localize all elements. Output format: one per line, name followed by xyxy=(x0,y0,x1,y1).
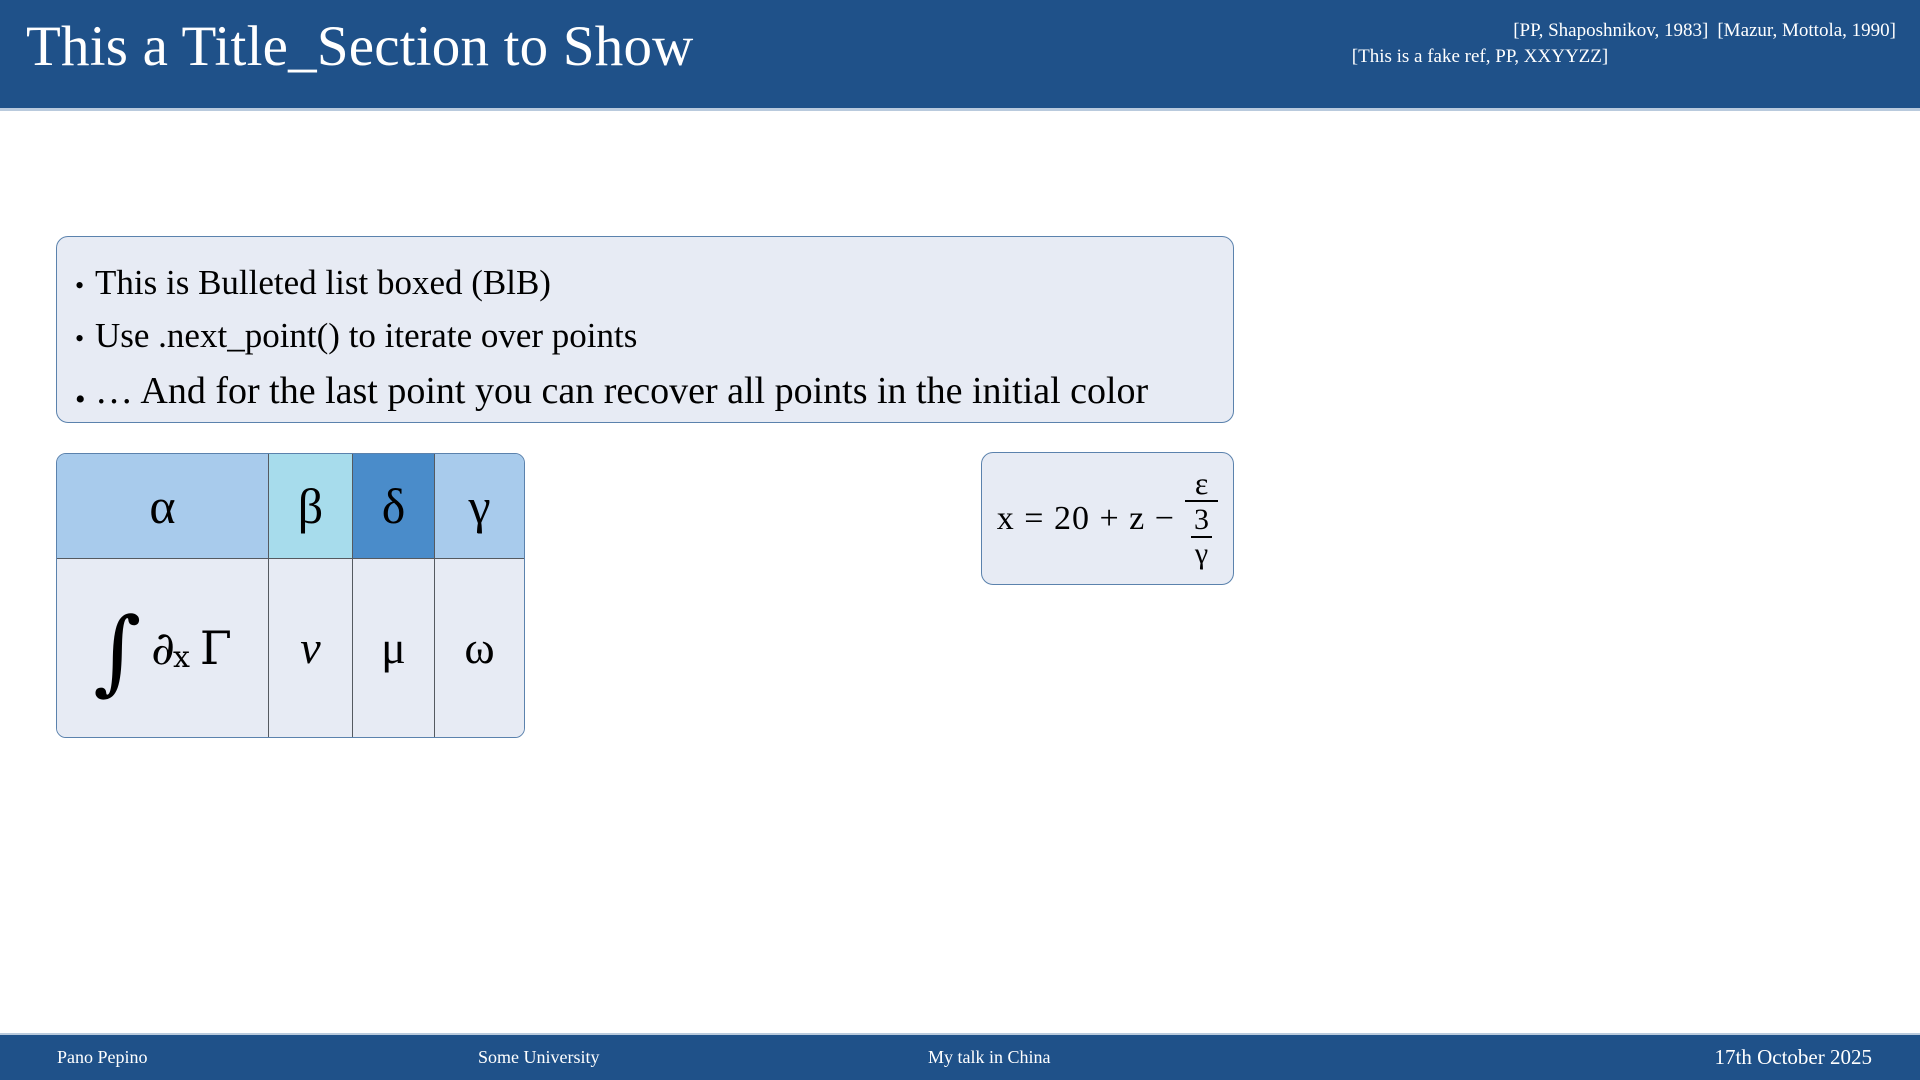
equation-left-hand-side: x = 20 + z − xyxy=(997,502,1175,536)
table-header-symbol: δ xyxy=(382,481,406,531)
footer-institute: Some University xyxy=(478,1035,600,1080)
fraction-numerator: ε xyxy=(1189,466,1214,500)
equation-box: x = 20 + z − ε 3 γ xyxy=(981,452,1234,585)
slide-header-bar: This a Title_Section to Show [PP, Shapos… xyxy=(0,0,1920,108)
table-header-symbol: γ xyxy=(468,481,490,531)
table-header-cell-delta: δ xyxy=(352,454,434,558)
table-cell-symbol: μ xyxy=(381,625,406,671)
bullet-icon: • xyxy=(75,326,95,352)
bulleted-list-box: • This is Bulleted list boxed (BlB) • Us… xyxy=(56,236,1234,423)
reference-item-1: [PP, Shaposhnikov, 1983] xyxy=(1513,20,1708,41)
fraction: ε 3 γ xyxy=(1185,466,1218,570)
fraction-denominator: 3 γ xyxy=(1185,500,1218,570)
integral-icon: ∫ xyxy=(93,613,141,691)
list-item-label: Use .next_point() to iterate over points xyxy=(95,310,637,362)
partial-derivative-symbol: ∂ xyxy=(151,625,175,671)
table-header-cell-beta: β xyxy=(268,454,352,558)
reference-item-2: [Mazur, Mottola, 1990] xyxy=(1717,20,1896,41)
greek-symbol-table: α β δ γ ∫∂xΓ ν μ ω xyxy=(56,453,525,738)
table-header-cell-alpha: α xyxy=(57,454,268,558)
table-row: ∫∂xΓ ν μ ω xyxy=(57,558,524,737)
list-item-label: This is Bulleted list boxed (BlB) xyxy=(95,257,551,309)
nested-fraction: 3 γ xyxy=(1191,504,1212,570)
bullet-icon: • xyxy=(75,385,95,415)
footer-talk-title: My talk in China xyxy=(928,1035,1051,1080)
nested-fraction-numerator: 3 xyxy=(1194,504,1209,536)
table-cell-omega: ω xyxy=(434,559,524,737)
list-item: • This is Bulleted list boxed (BlB) xyxy=(75,257,1215,309)
page-title: This a Title_Section to Show xyxy=(26,12,694,82)
slide-footer-bar: Pano Pepino Some University My talk in C… xyxy=(0,1035,1920,1080)
table-cell-mu: μ xyxy=(352,559,434,737)
reference-list: [PP, Shaposhnikov, 1983][Mazur, Mottola,… xyxy=(1116,18,1896,70)
bullet-icon: • xyxy=(75,273,95,299)
table-cell-nu: ν xyxy=(268,559,352,737)
equation-expression: x = 20 + z − ε 3 γ xyxy=(997,467,1218,571)
list-item: • Use .next_point() to iterate over poin… xyxy=(75,310,1215,362)
table-cell-symbol: ω xyxy=(464,625,494,671)
table-cell-symbol: ν xyxy=(300,625,320,671)
capital-gamma-symbol: Γ xyxy=(200,625,232,671)
table-header-symbol: α xyxy=(149,481,175,531)
table-header-cell-gamma: γ xyxy=(434,454,524,558)
list-item: • … And for the last point you can recov… xyxy=(75,363,1215,419)
table-header-row: α β δ γ xyxy=(57,454,524,558)
integral-formula: ∫∂xΓ xyxy=(93,609,232,687)
footer-author: Pano Pepino xyxy=(57,1035,148,1080)
reference-line-1: [PP, Shaposhnikov, 1983][Mazur, Mottola,… xyxy=(1116,18,1896,44)
footer-date: 17th October 2025 xyxy=(1715,1035,1872,1080)
table-header-symbol: β xyxy=(298,481,323,531)
list-item-label: … And for the last point you can recover… xyxy=(95,363,1148,419)
partial-subscript: x xyxy=(173,643,190,673)
table-cell-integral-expression: ∫∂xΓ xyxy=(57,559,268,737)
reference-item-3: [This is a fake ref, PP, XXYYZZ] xyxy=(1116,44,1896,70)
nested-fraction-denominator: γ xyxy=(1191,536,1212,570)
